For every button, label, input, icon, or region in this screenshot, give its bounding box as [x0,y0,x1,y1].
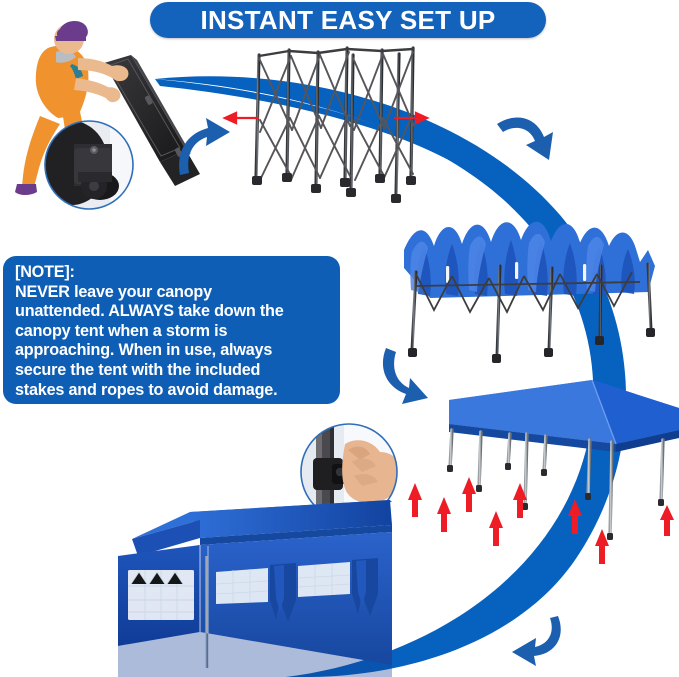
step-person-with-carry-bag [15,21,200,216]
note-line: canopy tent when a storm is [15,322,330,342]
note-line: unattended. ALWAYS take down the [15,302,330,322]
page-title: INSTANT EASY SET UP [200,7,495,33]
note-callout-box: [NOTE]: NEVER leave your canopy unattend… [3,256,340,404]
note-line: NEVER leave your canopy [15,283,330,303]
flow-arrow-1 [179,118,230,175]
flow-arrow-4 [512,616,561,666]
flow-arrow-2 [497,118,553,160]
flow-arrow-3 [383,348,428,404]
note-line: [NOTE]: [15,263,330,283]
note-line: stakes and ropes to avoid damage. [15,381,330,401]
page-title-banner: INSTANT EASY SET UP [150,2,546,38]
step-folded-frame [225,48,427,203]
step-assembled-tent [118,500,392,677]
cap-icon [57,21,88,37]
note-line: secure the tent with the included [15,361,330,381]
note-line: approaching. When in use, always [15,341,330,361]
infographic-canvas: INSTANT EASY SET UP [NOTE]: NEVER leave … [0,0,679,677]
